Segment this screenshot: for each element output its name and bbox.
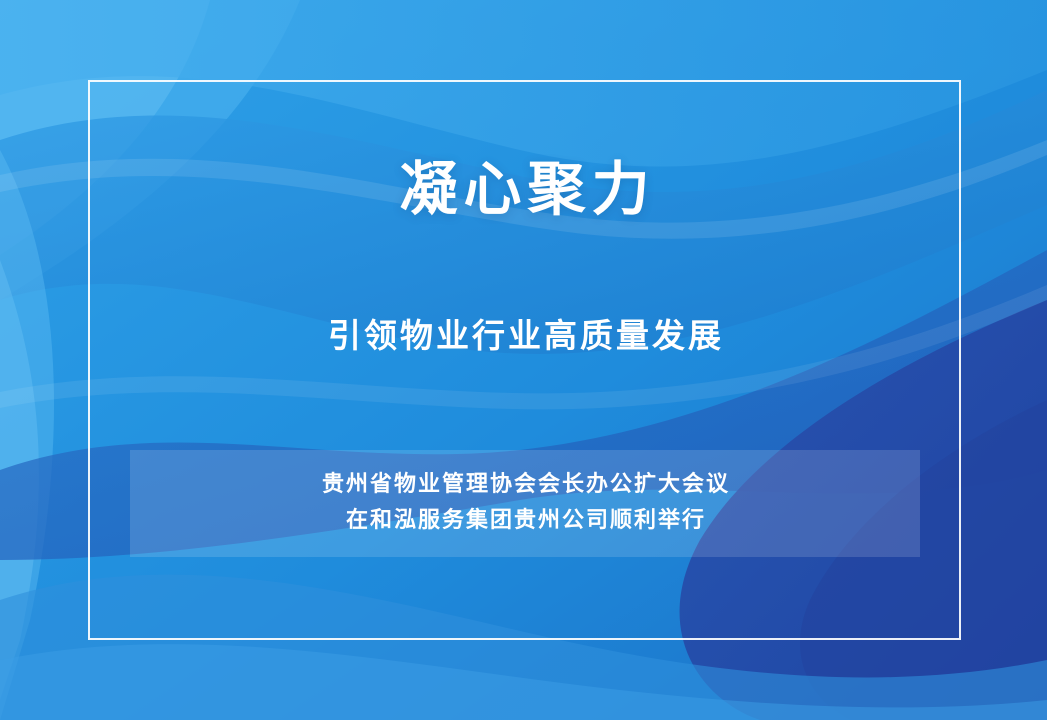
poster-canvas: 凝心聚力 引领物业行业高质量发展 贵州省物业管理协会会长办公扩大会议 在和泓服务… xyxy=(0,0,1047,720)
caption-line-1: 贵州省物业管理协会会长办公扩大会议 xyxy=(130,466,920,502)
caption-band: 贵州省物业管理协会会长办公扩大会议 在和泓服务集团贵州公司顺利举行 xyxy=(130,450,920,557)
poster-content: 凝心聚力 引领物业行业高质量发展 贵州省物业管理协会会长办公扩大会议 在和泓服务… xyxy=(88,80,961,640)
caption-line-2: 在和泓服务集团贵州公司顺利举行 xyxy=(130,502,920,538)
main-title: 凝心聚力 xyxy=(88,155,961,225)
sub-title: 引领物业行业高质量发展 xyxy=(88,315,961,358)
